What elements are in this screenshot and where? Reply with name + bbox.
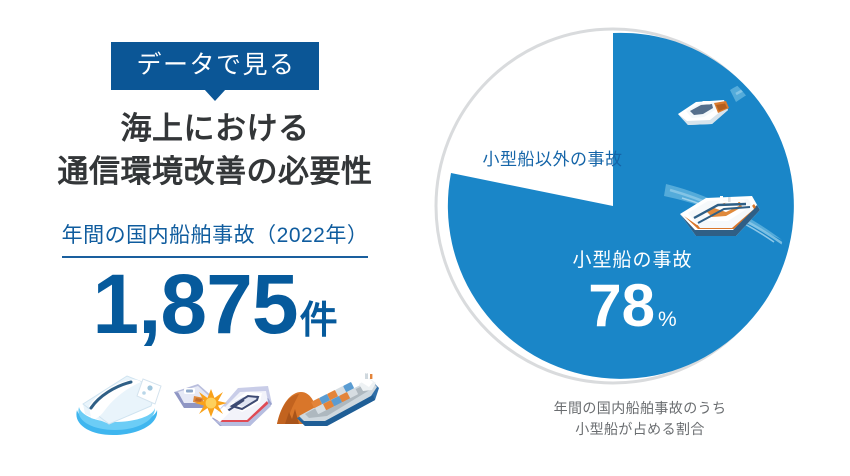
chart-caption-line-1: 年間の国内船舶事故のうち [430,398,850,419]
page-title: 海上における 通信環境改善の必要性 [0,108,430,194]
badge-container: データで見る [0,42,430,90]
grounded-cargo-ship-icon [275,362,385,442]
statistic-unit: 件 [300,300,338,342]
infographic-root: データで見る 海上における 通信環境改善の必要性 年間の国内船舶事故（2022年… [0,0,850,476]
boat-collision-icon [168,362,278,442]
right-panel: 小型船以外の事故 小型船の事故 78% 年間の国内船舶事故のうち 小型船が占める… [430,0,850,476]
ship-illustration-strip [55,362,395,442]
statistic-number: 1,875 [92,257,297,351]
triangle-down-icon [204,89,226,101]
subtitle-container: 年間の国内船舶事故（2022年） [0,219,430,258]
statistic-subtitle: 年間の国内船舶事故（2022年） [62,219,369,258]
data-badge: データで見る [111,42,318,90]
speedboat-wake [730,58,816,102]
chart-caption-line-2: 小型船が占める割合 [430,419,850,440]
capsized-boat-icon [65,362,175,442]
badge-label: データで見る [136,51,295,79]
chart-caption: 年間の国内船舶事故のうち 小型船が占める割合 [430,398,850,440]
left-panel: データで見る 海上における 通信環境改善の必要性 年間の国内船舶事故（2022年… [0,0,430,476]
statistic-figure: 1,875件 [0,262,430,346]
pie-chart: 小型船以外の事故 小型船の事故 78% [430,18,850,398]
headline-line-1: 海上における [0,108,430,151]
headline-line-2: 通信環境改善の必要性 [0,151,430,194]
